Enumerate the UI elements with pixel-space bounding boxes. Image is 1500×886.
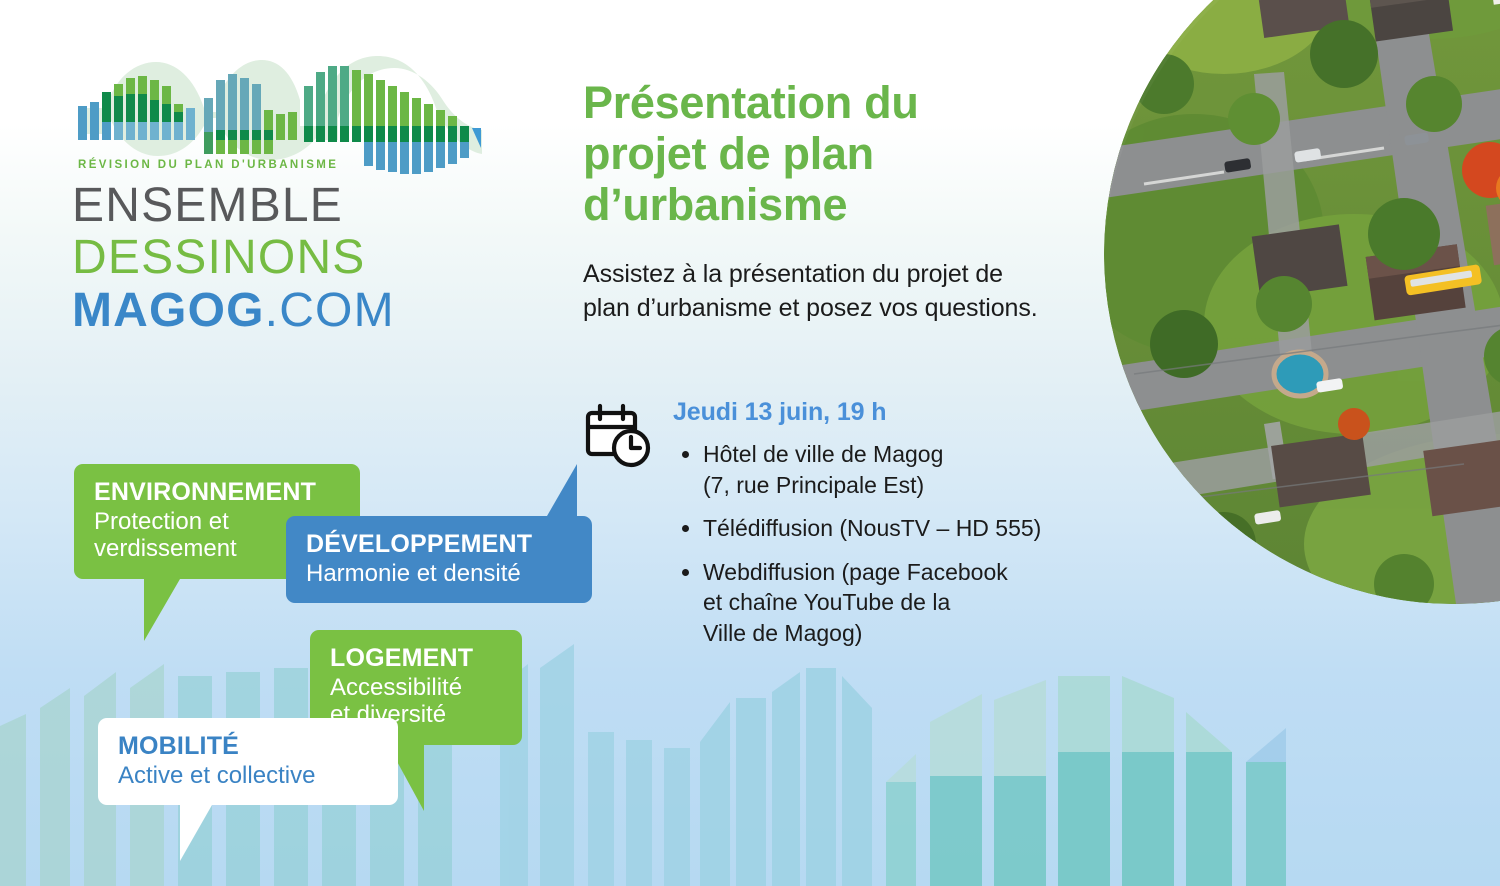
list-item: Webdiffusion (page Facebook et chaîne Yo… — [673, 557, 1103, 649]
aerial-neighbourhood-photo — [1104, 0, 1500, 604]
logo-line-magog: MAGOG.COM — [72, 285, 502, 337]
speech-tail — [180, 805, 212, 861]
bubble-title: DÉVELOPPEMENT — [306, 530, 572, 560]
calendar-clock-icon — [583, 402, 655, 474]
bubble-subtitle: Harmonie et densité — [306, 560, 572, 588]
theme-bubble-developpement: DÉVELOPPEMENT Harmonie et densité — [286, 516, 592, 603]
page-subtitle: Assistez à la présentation du projet de … — [583, 257, 1053, 326]
page-title: Présentation du projet de plan d’urbanis… — [583, 78, 1013, 231]
theme-bubble-mobilite: MOBILITÉ Active et collective — [98, 718, 398, 805]
revision-du-plan-durbanisme-bars-logo: RÉVISION DU PLAN D'URBANISME — [72, 56, 488, 180]
list-item: Hôtel de ville de Magog (7, rue Principa… — [673, 439, 1103, 500]
event-details-block: Jeudi 13 juin, 19 h Hôtel de ville de Ma… — [583, 398, 1103, 661]
brand-logo: RÉVISION DU PLAN D'URBANISME ENSEMBLE DE… — [72, 56, 502, 337]
speech-tail — [144, 579, 180, 641]
event-channel-list: Hôtel de ville de Magog (7, rue Principa… — [673, 439, 1103, 648]
bubble-subtitle: Active et collective — [118, 762, 378, 790]
list-item: Télédiffusion (NousTV – HD 555) — [673, 513, 1103, 544]
logo-magog-text: MAGOG — [72, 284, 265, 337]
bubble-title: MOBILITÉ — [118, 732, 378, 762]
logo-tagline: RÉVISION DU PLAN D'URBANISME — [78, 158, 338, 171]
event-date: Jeudi 13 juin, 19 h — [673, 398, 1103, 427]
logo-line-ensemble: ENSEMBLE — [72, 180, 502, 232]
poster-canvas: RÉVISION DU PLAN D'URBANISME ENSEMBLE DE… — [0, 0, 1500, 886]
logo-dotcom-text: .COM — [265, 284, 395, 337]
logo-line-dessinons: DESSINONS — [72, 232, 502, 284]
speech-tail — [547, 464, 577, 516]
event-details-text: Jeudi 13 juin, 19 h Hôtel de ville de Ma… — [673, 398, 1103, 661]
bubble-title: LOGEMENT — [330, 644, 502, 674]
bubble-title: ENVIRONNEMENT — [94, 478, 340, 508]
headline-block: Présentation du projet de plan d’urbanis… — [583, 78, 1103, 326]
